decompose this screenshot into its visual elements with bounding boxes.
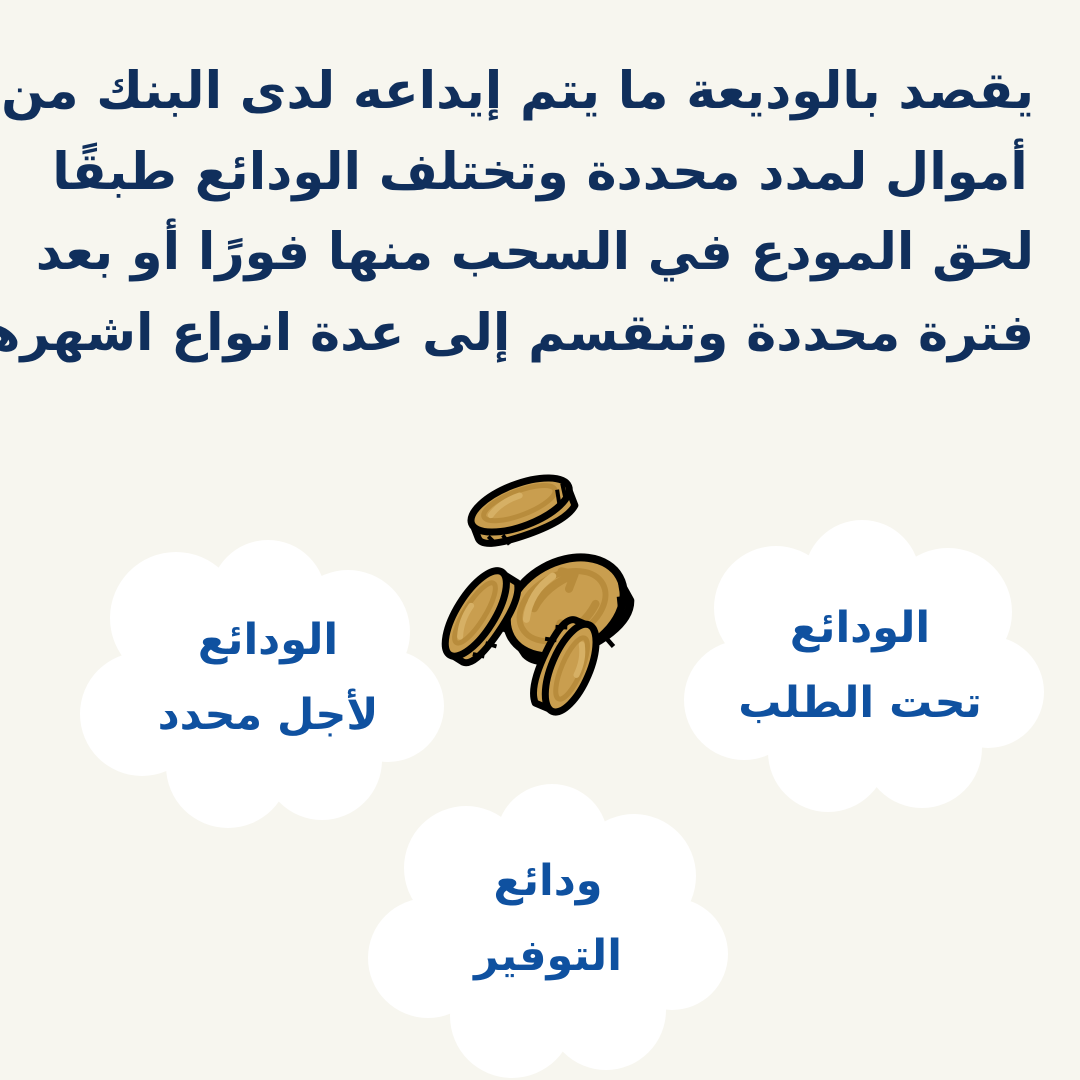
coin-top (464, 467, 580, 555)
cloud-shape (684, 520, 1044, 812)
poster-canvas: يقصد بالوديعة ما يتم إيداعه لدى البنك من… (0, 0, 1080, 1080)
page-title: يقصد بالوديعة ما يتم إيداعه لدى البنك من… (46, 52, 1034, 374)
headline-line-2: أموال لمدد محددة وتختلف الودائع طبقًا (46, 133, 1034, 214)
cloud-bubble-savings-deposits[interactable]: ودائع التوفير (360, 792, 736, 1074)
cloud-bubble-demand-deposits[interactable]: الودائع تحت الطلب (680, 528, 1052, 808)
cloud-shape (368, 784, 728, 1078)
headline-line-1: يقصد بالوديعة ما يتم إيداعه لدى البنك من (46, 52, 1034, 133)
cloud-shape (80, 540, 444, 828)
headline-line-4: فترة محددة وتنقسم إلى عدة انواع اشهرها (46, 294, 1034, 375)
cloud-bubble-term-deposits[interactable]: الودائع لأجل محدد (72, 546, 452, 818)
headline-line-3: لحق المودع في السحب منها فورًا أو بعد (46, 213, 1034, 294)
